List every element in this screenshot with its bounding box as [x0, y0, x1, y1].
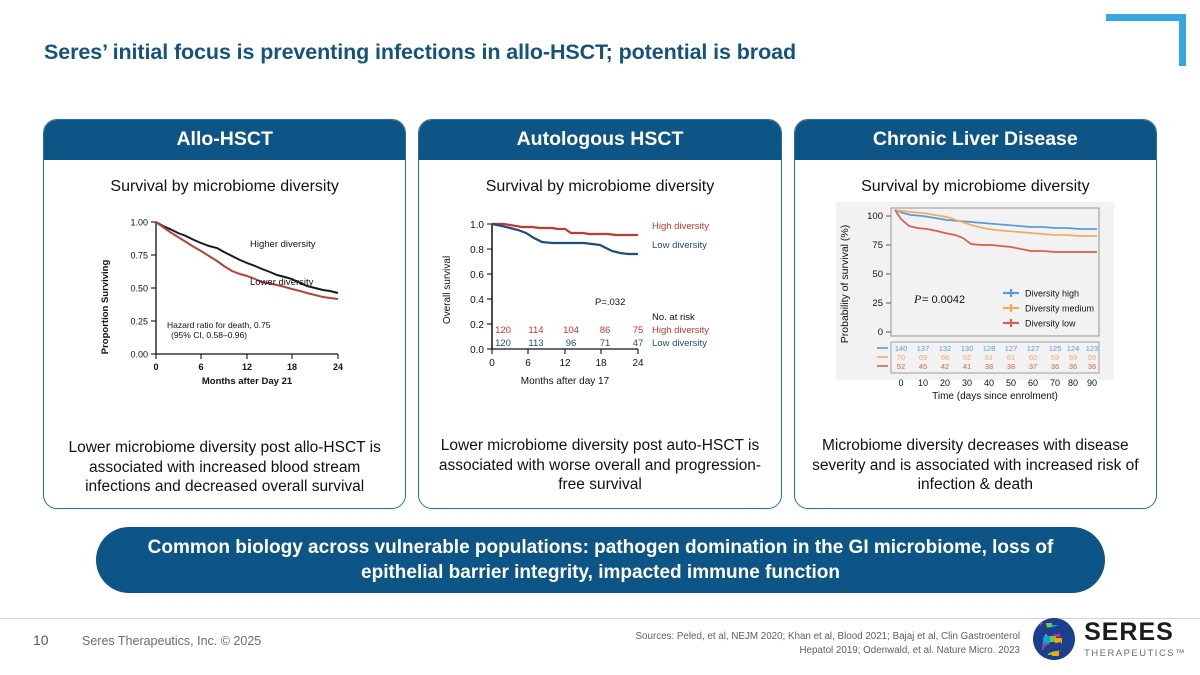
svg-text:66: 66 [941, 353, 949, 362]
card-allo-hsct: Allo-HSCT Survival by microbiome diversi… [43, 119, 406, 509]
hazard-ratio-annotation-line2: (95% CI, 0.58–0.96) [171, 330, 247, 340]
svg-text:24: 24 [333, 362, 343, 372]
svg-text:50: 50 [1006, 378, 1016, 388]
card-header-allo-hsct: Allo-HSCT [44, 120, 405, 160]
svg-text:45: 45 [919, 362, 927, 371]
series-label-higher-diversity: Higher diversity [250, 239, 316, 250]
y-tick-labels: 1.00 0.75 0.50 0.25 0.00 [130, 218, 148, 360]
svg-text:24: 24 [632, 358, 644, 369]
svg-text:25: 25 [873, 298, 884, 309]
svg-text:104: 104 [563, 325, 579, 336]
card-chronic-liver-disease: Chronic Liver Disease Survival by microb… [794, 119, 1157, 509]
svg-text:36: 36 [1051, 362, 1059, 371]
logo-primary-text: SERES [1084, 620, 1186, 645]
card-subtitle-autologous-hsct: Survival by microbiome diversity [419, 160, 780, 200]
svg-text:124: 124 [1067, 344, 1080, 353]
svg-text:125: 125 [1049, 344, 1062, 353]
svg-text:6: 6 [198, 362, 203, 372]
svg-text:60: 60 [1029, 353, 1037, 362]
card-header-autologous-hsct: Autologous HSCT [419, 120, 780, 160]
risk-values-low-diversity: 120 113 96 71 47 [495, 338, 643, 349]
chart-autologous-hsct: Overall survival 1.0 0.8 0.6 0.4 0.2 0.0 [419, 200, 780, 436]
svg-text:0.8: 0.8 [470, 245, 484, 256]
card-subtitle-allo-hsct: Survival by microbiome diversity [44, 160, 405, 200]
risk-table-title: No. at risk [652, 312, 695, 323]
svg-text:61: 61 [1007, 353, 1015, 362]
x-axis-label: Months after day 17 [521, 376, 610, 387]
series-label-low-diversity: Low diversity [652, 240, 707, 251]
card-autologous-hsct: Autologous HSCT Survival by microbiome d… [418, 119, 781, 509]
svg-text:52: 52 [897, 362, 905, 371]
svg-text:40: 40 [984, 378, 994, 388]
footer-company: Seres Therapeutics, Inc. © 2025 [82, 634, 261, 648]
svg-text:0.0: 0.0 [470, 345, 484, 356]
svg-text:75: 75 [873, 240, 884, 251]
risk-values-high-diversity: 120 114 104 86 75 [495, 325, 643, 336]
svg-text:37: 37 [1029, 362, 1037, 371]
svg-text:130: 130 [961, 344, 974, 353]
svg-text:114: 114 [528, 325, 543, 336]
x-axis-ticks [156, 354, 338, 359]
svg-text:10: 10 [918, 378, 928, 388]
svg-text:12: 12 [242, 362, 252, 372]
card-caption-autologous-hsct: Lower microbiome diversity post auto-HSC… [419, 436, 780, 508]
svg-text:69: 69 [919, 353, 927, 362]
svg-text:36: 36 [1069, 362, 1077, 371]
svg-text:70: 70 [1050, 378, 1060, 388]
svg-text:140: 140 [895, 344, 908, 353]
svg-text:18: 18 [595, 358, 607, 369]
svg-text:0.6: 0.6 [470, 270, 484, 281]
x-axis-label: Months after Day 21 [202, 376, 293, 387]
svg-text:41: 41 [963, 362, 971, 371]
svg-text:18: 18 [287, 362, 297, 372]
svg-text:132: 132 [939, 344, 952, 353]
svg-text:60: 60 [1028, 378, 1038, 388]
p-value-annotation: P [913, 292, 922, 306]
hazard-ratio-annotation-line1: Hazard ratio for death, 0.75 [167, 320, 271, 330]
svg-text:0: 0 [899, 378, 904, 388]
p-value-number: = 0.0042 [922, 294, 965, 306]
svg-text:123: 123 [1086, 344, 1099, 353]
km-plot-autologous-hsct: Overall survival 1.0 0.8 0.6 0.4 0.2 0.0 [440, 202, 760, 392]
x-tick-labels: 0 6 12 18 24 [153, 362, 343, 372]
legend-label-diversity-medium: Diversity medium [1025, 304, 1094, 314]
svg-text:0.75: 0.75 [130, 251, 148, 261]
svg-text:137: 137 [917, 344, 930, 353]
svg-text:113: 113 [528, 338, 543, 349]
svg-text:30: 30 [962, 378, 972, 388]
seres-logo: SERES THERAPEUTICS™ [1031, 616, 1186, 662]
card-subtitle-chronic-liver-disease: Survival by microbiome diversity [795, 160, 1156, 200]
svg-text:90: 90 [1087, 378, 1097, 388]
svg-text:75: 75 [633, 325, 644, 336]
svg-text:42: 42 [941, 362, 949, 371]
svg-text:38: 38 [985, 362, 993, 371]
svg-text:120: 120 [495, 325, 511, 336]
svg-text:1.00: 1.00 [130, 218, 148, 228]
series-label-high-diversity: High diversity [652, 221, 709, 232]
svg-text:0: 0 [878, 327, 883, 338]
svg-text:0.50: 0.50 [130, 284, 148, 294]
risk-row-label-high-diversity: High diversity [652, 325, 709, 336]
svg-text:0.2: 0.2 [470, 320, 484, 331]
x-axis-label: Time (days since enrolment) [932, 391, 1058, 402]
card-caption-chronic-liver-disease: Microbiome diversity decreases with dise… [795, 436, 1156, 508]
y-tick-labels: 1.0 0.8 0.6 0.4 0.2 0.0 [470, 220, 484, 356]
footer-divider [0, 618, 1200, 619]
svg-text:0: 0 [489, 358, 495, 369]
page-title: Seres’ initial focus is preventing infec… [44, 40, 796, 65]
svg-text:100: 100 [867, 211, 883, 222]
y-axis-label: Overall survival [442, 256, 453, 324]
series-label-lower-diversity: Lower diversity [250, 277, 314, 288]
cards-container: Allo-HSCT Survival by microbiome diversi… [43, 119, 1157, 509]
summary-banner: Common biology across vulnerable populat… [96, 527, 1105, 593]
seres-mark-icon [1031, 616, 1077, 662]
svg-text:20: 20 [940, 378, 950, 388]
svg-text:36: 36 [1088, 362, 1096, 371]
svg-text:86: 86 [600, 325, 611, 336]
chart-allo-hsct: Proportion Surviving 1.00 0.75 0.50 0.25… [44, 200, 405, 438]
svg-text:71: 71 [600, 338, 611, 349]
svg-text:59: 59 [1069, 353, 1077, 362]
y-axis-label: Probability of survival (%) [839, 225, 851, 343]
x-tick-labels: 0 6 12 18 24 [489, 358, 644, 369]
footer-sources: Sources: Peled, et al, NEJM 2020; Khan e… [600, 630, 1020, 658]
svg-text:80: 80 [1068, 378, 1078, 388]
svg-text:128: 128 [983, 344, 996, 353]
svg-text:0.4: 0.4 [470, 295, 484, 306]
svg-text:127: 127 [1027, 344, 1040, 353]
km-plot-allo-hsct: Proportion Surviving 1.00 0.75 0.50 0.25… [95, 202, 355, 387]
km-plot-chronic-liver-disease: Probability of survival (%) 100 75 50 25… [831, 202, 1119, 402]
y-axis-ticks [151, 222, 156, 354]
svg-text:96: 96 [566, 338, 577, 349]
svg-text:0: 0 [153, 362, 158, 372]
y-axis-label: Proportion Surviving [100, 260, 111, 355]
svg-text:62: 62 [963, 353, 971, 362]
svg-text:47: 47 [633, 338, 644, 349]
logo-secondary-text: THERAPEUTICS™ [1084, 648, 1186, 657]
svg-text:61: 61 [985, 353, 993, 362]
logo-wordmark: SERES THERAPEUTICS™ [1084, 620, 1186, 657]
svg-text:59: 59 [1051, 353, 1059, 362]
svg-text:0.25: 0.25 [130, 317, 148, 327]
svg-text:50: 50 [873, 269, 884, 280]
corner-bracket-decoration [1106, 14, 1186, 66]
x-axis-ticks [492, 349, 638, 354]
svg-text:120: 120 [495, 338, 511, 349]
svg-text:59: 59 [1088, 353, 1096, 362]
svg-text:0.00: 0.00 [130, 350, 148, 360]
card-caption-allo-hsct: Lower microbiome diversity post allo-HSC… [44, 438, 405, 508]
legend-label-diversity-high: Diversity high [1025, 289, 1079, 299]
svg-text:38: 38 [1007, 362, 1015, 371]
svg-text:12: 12 [559, 358, 571, 369]
page-number: 10 [33, 632, 49, 648]
svg-text:70: 70 [897, 353, 905, 362]
card-header-chronic-liver-disease: Chronic Liver Disease [795, 120, 1156, 160]
svg-text:127: 127 [1005, 344, 1018, 353]
chart-chronic-liver-disease: Probability of survival (%) 100 75 50 25… [795, 200, 1156, 436]
legend-label-diversity-low: Diversity low [1025, 319, 1076, 329]
p-value-annotation: P=.032 [595, 297, 625, 308]
svg-text:1.0: 1.0 [470, 220, 484, 231]
svg-text:6: 6 [525, 358, 531, 369]
risk-row-label-low-diversity: Low diversity [652, 338, 707, 349]
